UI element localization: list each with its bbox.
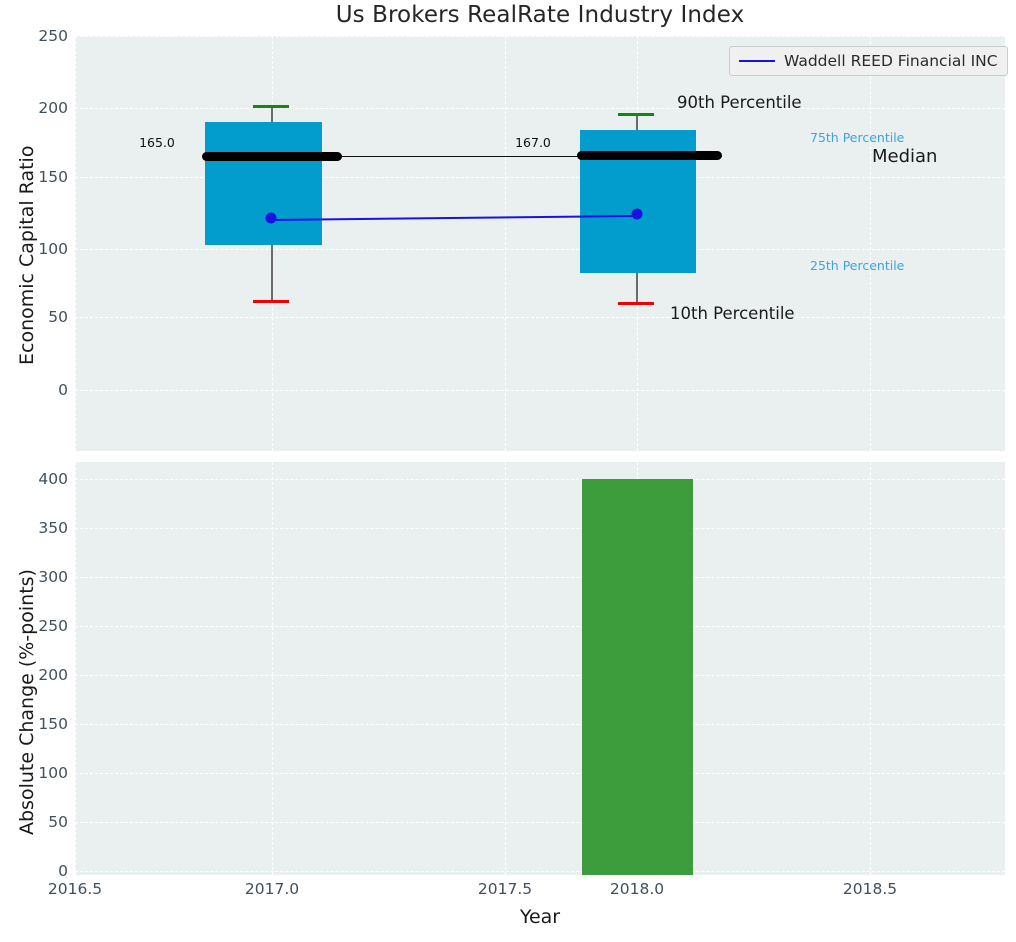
panel-absolute-change [75,462,1005,875]
annotation-10th-percentile: 10th Percentile [670,304,795,323]
gridline-y-100 [75,249,1005,250]
series-point-2017 [266,213,277,224]
gridline-y2-50 [75,822,1005,823]
yaxis-label-bottom: Absolute Change (%-points) [16,569,38,835]
median-value-2018: 167.0 [515,135,551,150]
ytick-bottom-0: 0 [6,862,68,880]
annotation-median: Median [872,146,937,167]
annotation-90th-percentile: 90th Percentile [677,93,802,112]
annotation-75th-percentile: 75th Percentile [810,130,904,145]
gridline-x2-2018-5 [870,462,871,875]
gridline-y2-400 [75,479,1005,480]
gridline-y-0 [75,390,1005,391]
gridline-y-200 [75,108,1005,109]
gridline-y-50 [75,317,1005,318]
box-2017 [205,122,322,245]
xtick-2016-5: 2016.5 [48,880,102,898]
ytick-top-0: 0 [6,381,68,399]
legend-color-swatch [739,60,775,63]
chart-figure: Us Brokers RealRate Industry Index [0,0,1016,942]
gridline-y2-200 [75,675,1005,676]
panel-economic-capital-ratio: 165.0 167.0 90th Percentile 75th Percent… [75,36,1005,451]
bar-2018-absolute-change [582,479,693,875]
gridline-y2-150 [75,724,1005,725]
p10-cap-2018 [618,302,654,305]
xtick-2017-0: 2017.0 [245,880,299,898]
gridline-y2-350 [75,528,1005,529]
gridline-y2-300 [75,577,1005,578]
gridline-y2-0 [75,871,1005,872]
median-bar-2017 [202,152,342,161]
median-value-2017: 165.0 [139,135,175,150]
p90-cap-2018 [618,113,654,116]
median-bar-2018 [577,151,722,160]
legend[interactable]: Waddell REED Financial INC [729,46,1008,76]
yaxis-label-top: Economic Capital Ratio [16,146,38,365]
xtick-2018-5: 2018.5 [843,880,897,898]
p10-cap-2017 [253,300,289,303]
xtick-2018-0: 2018.0 [610,880,664,898]
ytick-bottom-350: 350 [6,519,68,537]
gridline-y-250 [75,36,1005,37]
annotation-25th-percentile: 25th Percentile [810,258,904,273]
ytick-top-200: 200 [6,99,68,117]
gridline-y2-250 [75,626,1005,627]
ytick-bottom-400: 400 [6,470,68,488]
gridline-x-2016-5 [75,36,76,451]
series-point-2018 [632,209,643,220]
gridline-x2-2016-5 [75,462,76,875]
gridline-x-2018-5 [870,36,871,451]
gridline-y2-100 [75,773,1005,774]
gridline-x-2017-5 [505,36,506,451]
ytick-top-250: 250 [6,27,68,45]
gridline-x2-2017-5 [505,462,506,875]
legend-label-waddell: Waddell REED Financial INC [784,52,998,70]
chart-title: Us Brokers RealRate Industry Index [75,2,1005,28]
xaxis-label: Year [75,906,1005,928]
p90-cap-2017 [253,105,289,108]
xtick-2017-5: 2017.5 [478,880,532,898]
gridline-x2-2017-0 [272,462,273,875]
